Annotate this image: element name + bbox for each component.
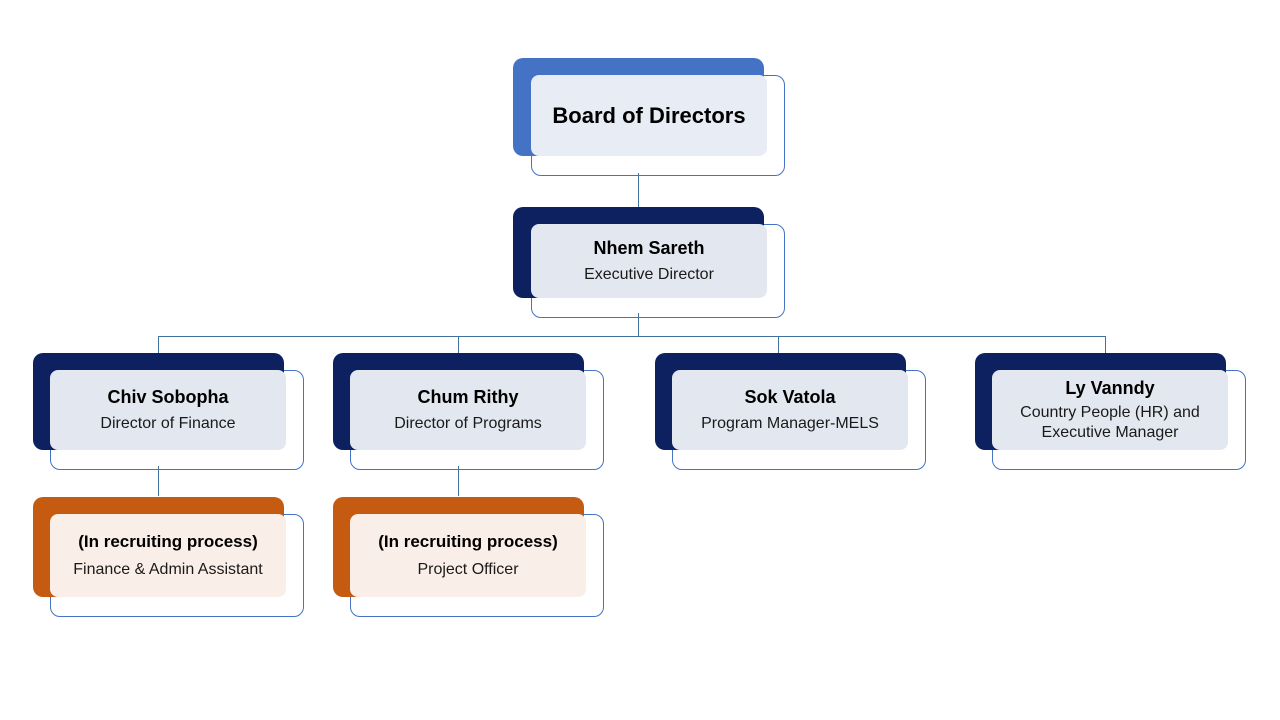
node-title: Ly Vanndy bbox=[1065, 377, 1154, 400]
node-subtitle: Finance & Admin Assistant bbox=[73, 560, 262, 580]
node-subtitle: Project Officer bbox=[417, 560, 518, 580]
node-card: Ly Vanndy Country People (HR) and Execut… bbox=[992, 370, 1228, 450]
node-card: Nhem Sareth Executive Director bbox=[531, 224, 767, 298]
node-country-people-hr[interactable]: Ly Vanndy Country People (HR) and Execut… bbox=[975, 353, 1247, 470]
org-chart: Board of Directors Nhem Sareth Executive… bbox=[0, 0, 1280, 720]
node-subtitle: Director of Programs bbox=[394, 414, 542, 434]
node-program-manager-mels[interactable]: Sok Vatola Program Manager-MELS bbox=[655, 353, 927, 470]
node-title: Sok Vatola bbox=[744, 386, 835, 409]
node-finance-admin-assistant[interactable]: (In recruiting process) Finance & Admin … bbox=[33, 497, 305, 617]
node-card: Sok Vatola Program Manager-MELS bbox=[672, 370, 908, 450]
node-title: Chum Rithy bbox=[418, 386, 519, 409]
connector-programs-to-project-officer bbox=[458, 466, 459, 496]
connector-horizontal-bus bbox=[158, 336, 1106, 337]
node-title: Chiv Sobopha bbox=[108, 386, 229, 409]
node-card: (In recruiting process) Finance & Admin … bbox=[50, 514, 286, 597]
node-subtitle: Executive Director bbox=[584, 265, 714, 285]
node-subtitle: Director of Finance bbox=[100, 414, 235, 434]
connector-finance-to-admin-assistant bbox=[158, 466, 159, 496]
node-title: (In recruiting process) bbox=[378, 531, 557, 552]
node-board[interactable]: Board of Directors bbox=[513, 58, 785, 176]
node-title: Nhem Sareth bbox=[593, 237, 704, 260]
node-card: (In recruiting process) Project Officer bbox=[350, 514, 586, 597]
node-executive-director[interactable]: Nhem Sareth Executive Director bbox=[513, 207, 785, 318]
connector-board-to-executive-director bbox=[638, 173, 639, 210]
node-card: Chiv Sobopha Director of Finance bbox=[50, 370, 286, 450]
node-project-officer[interactable]: (In recruiting process) Project Officer bbox=[333, 497, 605, 617]
node-director-of-finance[interactable]: Chiv Sobopha Director of Finance bbox=[33, 353, 305, 470]
node-card: Board of Directors bbox=[531, 75, 767, 156]
node-subtitle: Country People (HR) and Executive Manage… bbox=[1002, 403, 1218, 443]
node-title: (In recruiting process) bbox=[78, 531, 257, 552]
node-title: Board of Directors bbox=[552, 102, 745, 130]
node-subtitle: Program Manager-MELS bbox=[701, 414, 879, 434]
node-card: Chum Rithy Director of Programs bbox=[350, 370, 586, 450]
node-director-of-programs[interactable]: Chum Rithy Director of Programs bbox=[333, 353, 605, 470]
